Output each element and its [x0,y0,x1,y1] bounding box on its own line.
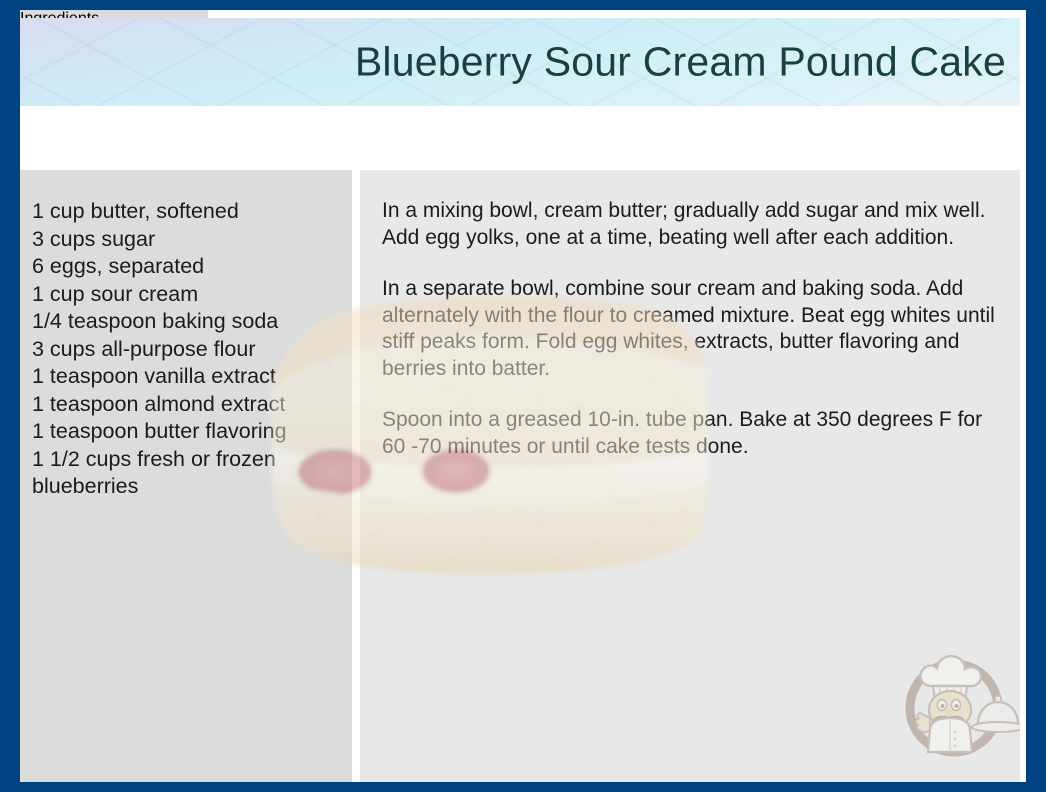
recipe-card: Blueberry Sour Cream Pound Cake Ingredie… [0,0,1046,792]
list-item: 1 cup butter, softened [32,198,338,226]
list-item: 3 cups sugar [32,226,338,254]
list-item: 1 cup sour cream [32,281,338,309]
title-banner: Blueberry Sour Cream Pound Cake [20,18,1020,106]
list-item: 1 1/2 cups fresh or frozen blueberries [32,446,338,501]
list-item: 1 teaspoon vanilla extract [32,363,338,391]
ingredients-panel: 1 cup butter, softened 3 cups sugar 6 eg… [20,170,352,782]
list-item: 1 teaspoon almond extract [32,391,338,419]
list-item: 1/4 teaspoon baking soda [32,308,338,336]
recipe-page: Blueberry Sour Cream Pound Cake Ingredie… [20,10,1026,782]
direction-paragraph: Spoon into a greased 10-in. tube pan. Ba… [382,407,998,460]
list-item: 3 cups all-purpose flour [32,336,338,364]
list-item: 6 eggs, separated [32,253,338,281]
list-item: 1 teaspoon butter flavoring [32,418,338,446]
directions-panel: In a mixing bowl, cream butter; graduall… [360,170,1020,782]
direction-paragraph: In a mixing bowl, cream butter; graduall… [382,198,998,251]
direction-paragraph: In a separate bowl, combine sour cream a… [382,276,998,382]
page-title: Blueberry Sour Cream Pound Cake [355,39,1006,86]
